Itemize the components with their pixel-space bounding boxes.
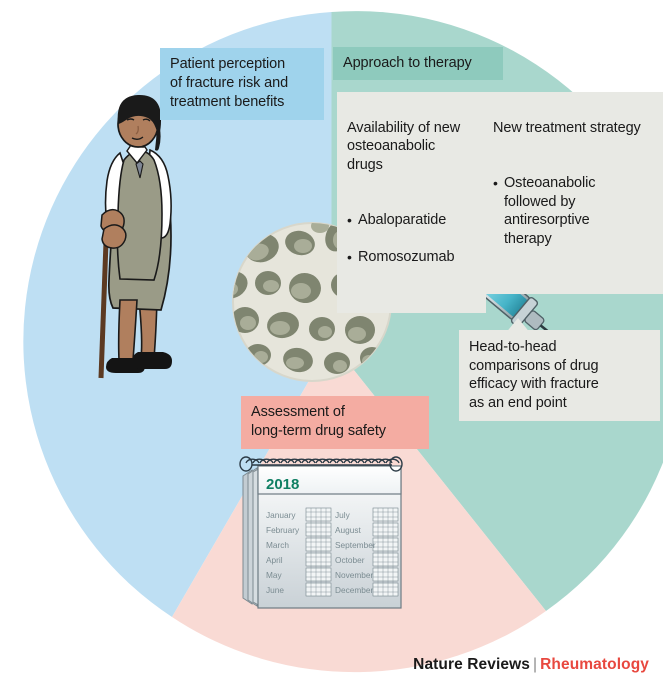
callout-bullet-list: Osteoanabolic followed by antiresorptive…	[493, 156, 658, 267]
callout-heading: Availability of new osteoanabolic drugs	[347, 119, 477, 175]
callout-new-treatment-strategy: New treatment strategy Osteoanabolic fol…	[483, 92, 663, 294]
label-approach-to-therapy: Approach to therapy	[333, 47, 503, 80]
label-long-term-drug-safety: Assessment of long-term drug safety	[241, 396, 429, 449]
callout-heading: New treatment strategy	[493, 119, 658, 138]
text-layer: Patient perception of fracture risk and …	[0, 0, 663, 685]
bullet-item: Osteoanabolic followed by antiresorptive…	[493, 174, 658, 248]
footer-separator: |	[530, 656, 540, 673]
callout-availability-of-new-drugs: Availability of new osteoanabolic drugs …	[337, 92, 486, 313]
callout-bullet-list: Abaloparatide Romosozumab	[347, 193, 477, 286]
callout-head-to-head-comparisons: Head-to-head comparisons of drug efficac…	[459, 330, 660, 421]
bullet-item: Abaloparatide	[347, 211, 477, 230]
bullet-item: Romosozumab	[347, 248, 477, 267]
label-patient-perception: Patient perception of fracture risk and …	[160, 48, 324, 120]
journal-footer: Nature Reviews|Rheumatology	[413, 656, 649, 674]
publisher-name: Nature Reviews	[413, 656, 530, 673]
journal-name: Rheumatology	[540, 656, 649, 673]
